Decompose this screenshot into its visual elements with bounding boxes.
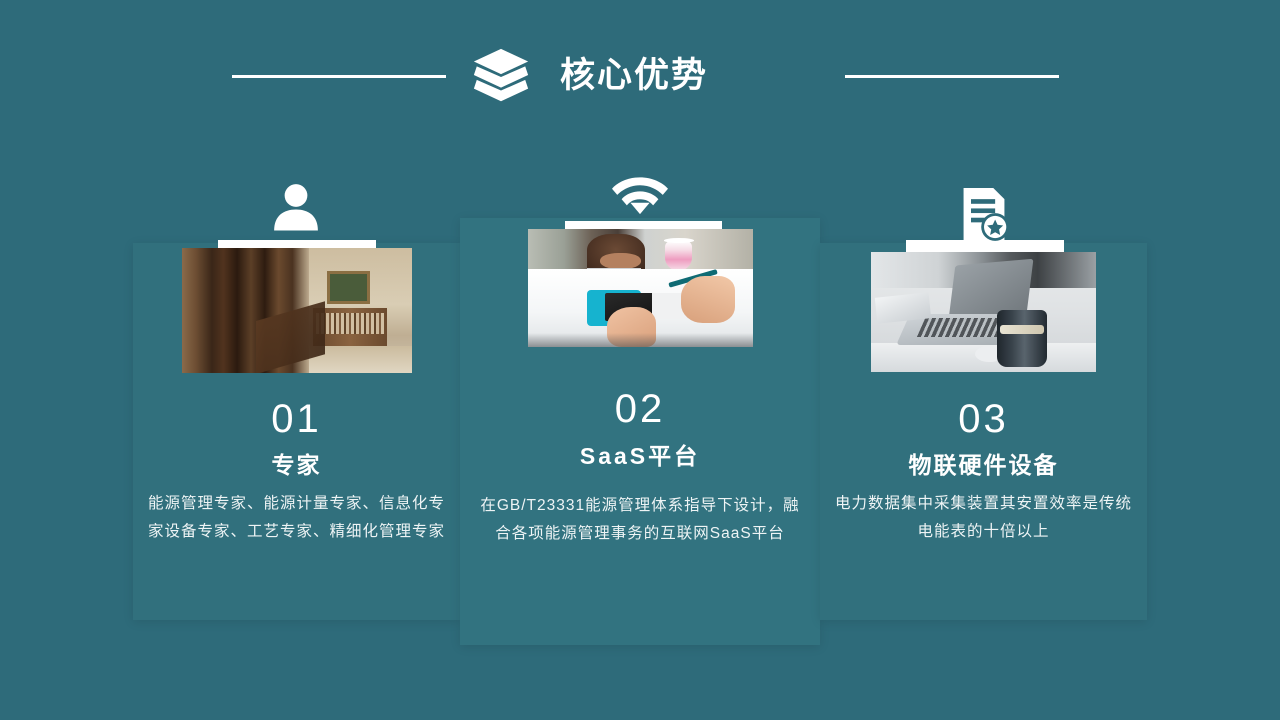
meeting-desk-tablet-photo (528, 229, 753, 347)
laptop-desk-photo (871, 252, 1096, 372)
card-description-1: 能源管理专家、能源计量专家、信息化专家设备专家、工艺专家、精细化管理专家 (148, 490, 445, 546)
page-title: 核心优势 (560, 50, 820, 102)
layers-stack-icon (470, 45, 532, 107)
card-description-3: 电力数据集中采集装置其安置效率是传统电能表的十倍以上 (835, 490, 1132, 546)
person-icon (268, 178, 324, 234)
divider-line-right (845, 75, 1059, 78)
divider-line-left (232, 75, 446, 78)
wifi-icon (612, 172, 668, 216)
card-title-2: SaaS平台 (460, 441, 820, 471)
card-number-3: 03 (820, 396, 1147, 442)
card-number-1: 01 (133, 396, 460, 442)
card-number-2: 02 (460, 386, 820, 432)
slide-root: 核心优势 01 专家 能源管理专家、能源计量专家、信息化专家设备专家、工艺专家、… (0, 0, 1280, 720)
document-star-icon (958, 186, 1010, 242)
card-title-3: 物联硬件设备 (820, 450, 1147, 480)
slide-header: 核心优势 (0, 0, 1280, 150)
card-description-2: 在GB/T23331能源管理体系指导下设计，融合各项能源管理事务的互联网SaaS… (478, 492, 802, 548)
library-bookshelf-photo (182, 248, 412, 373)
card-title-1: 专家 (133, 450, 460, 480)
